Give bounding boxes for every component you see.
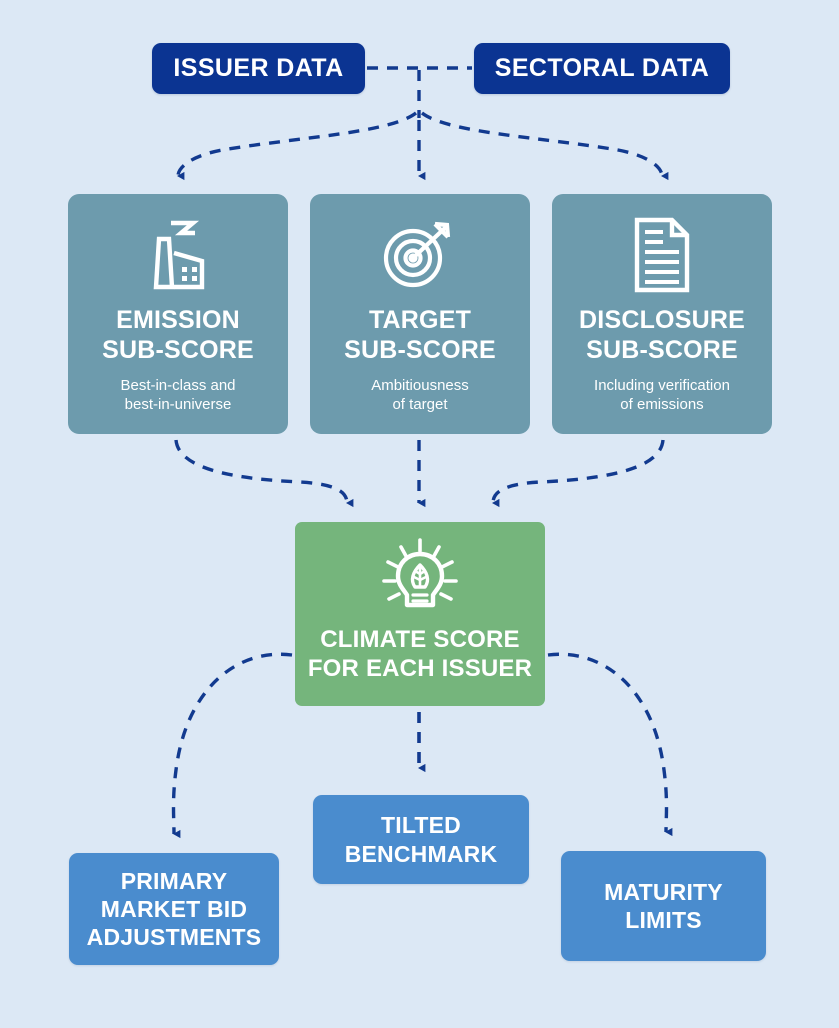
link-disclosure-to-climate <box>493 440 663 503</box>
node-disclosure-subscore[interactable]: DISCLOSURE SUB-SCORE Including verificat… <box>552 194 772 434</box>
node-issuer-data-label: ISSUER DATA <box>173 54 343 83</box>
node-sectoral-data-label: SECTORAL DATA <box>495 54 709 83</box>
node-issuer-data[interactable]: ISSUER DATA <box>152 43 365 94</box>
node-primary-market-bid-adjustments-label: PRIMARY MARKET BID ADJUSTMENTS <box>87 867 262 951</box>
node-disclosure-subscore-subtitle: Including verification of emissions <box>594 376 730 414</box>
link-junction-to-emission <box>178 113 416 176</box>
node-tilted-benchmark[interactable]: TILTED BENCHMARK <box>313 795 529 884</box>
link-emission-to-climate <box>176 440 347 503</box>
node-disclosure-subscore-title: DISCLOSURE SUB-SCORE <box>579 306 745 365</box>
diagram-canvas: ISSUER DATA SECTORAL DATA EMISSION SUB <box>0 0 839 1028</box>
link-junction-to-disclosure <box>422 113 662 176</box>
node-maturity-limits-label: MATURITY LIMITS <box>604 878 723 934</box>
node-target-subscore-subtitle: Ambitiousness of target <box>371 376 469 414</box>
factory-icon <box>141 212 215 298</box>
lightbulb-leaf-icon <box>377 536 463 622</box>
node-climate-score[interactable]: CLIMATE SCORE FOR EACH ISSUER <box>295 522 545 706</box>
node-emission-subscore-title: EMISSION SUB-SCORE <box>102 306 254 365</box>
link-climate-to-maturity-limits <box>548 654 667 832</box>
target-arrow-icon <box>380 212 460 298</box>
document-icon <box>632 212 692 298</box>
node-primary-market-bid-adjustments[interactable]: PRIMARY MARKET BID ADJUSTMENTS <box>69 853 279 965</box>
node-maturity-limits[interactable]: MATURITY LIMITS <box>561 851 766 961</box>
node-target-subscore-title: TARGET SUB-SCORE <box>344 306 496 365</box>
node-emission-subscore[interactable]: EMISSION SUB-SCORE Best-in-class and bes… <box>68 194 288 434</box>
node-sectoral-data[interactable]: SECTORAL DATA <box>474 43 730 94</box>
node-target-subscore[interactable]: TARGET SUB-SCORE Ambitiousness of target <box>310 194 530 434</box>
link-climate-to-primary-market <box>174 654 293 834</box>
node-tilted-benchmark-label: TILTED BENCHMARK <box>345 811 498 867</box>
node-emission-subscore-subtitle: Best-in-class and best-in-universe <box>120 376 235 414</box>
node-climate-score-title: CLIMATE SCORE FOR EACH ISSUER <box>308 626 532 684</box>
